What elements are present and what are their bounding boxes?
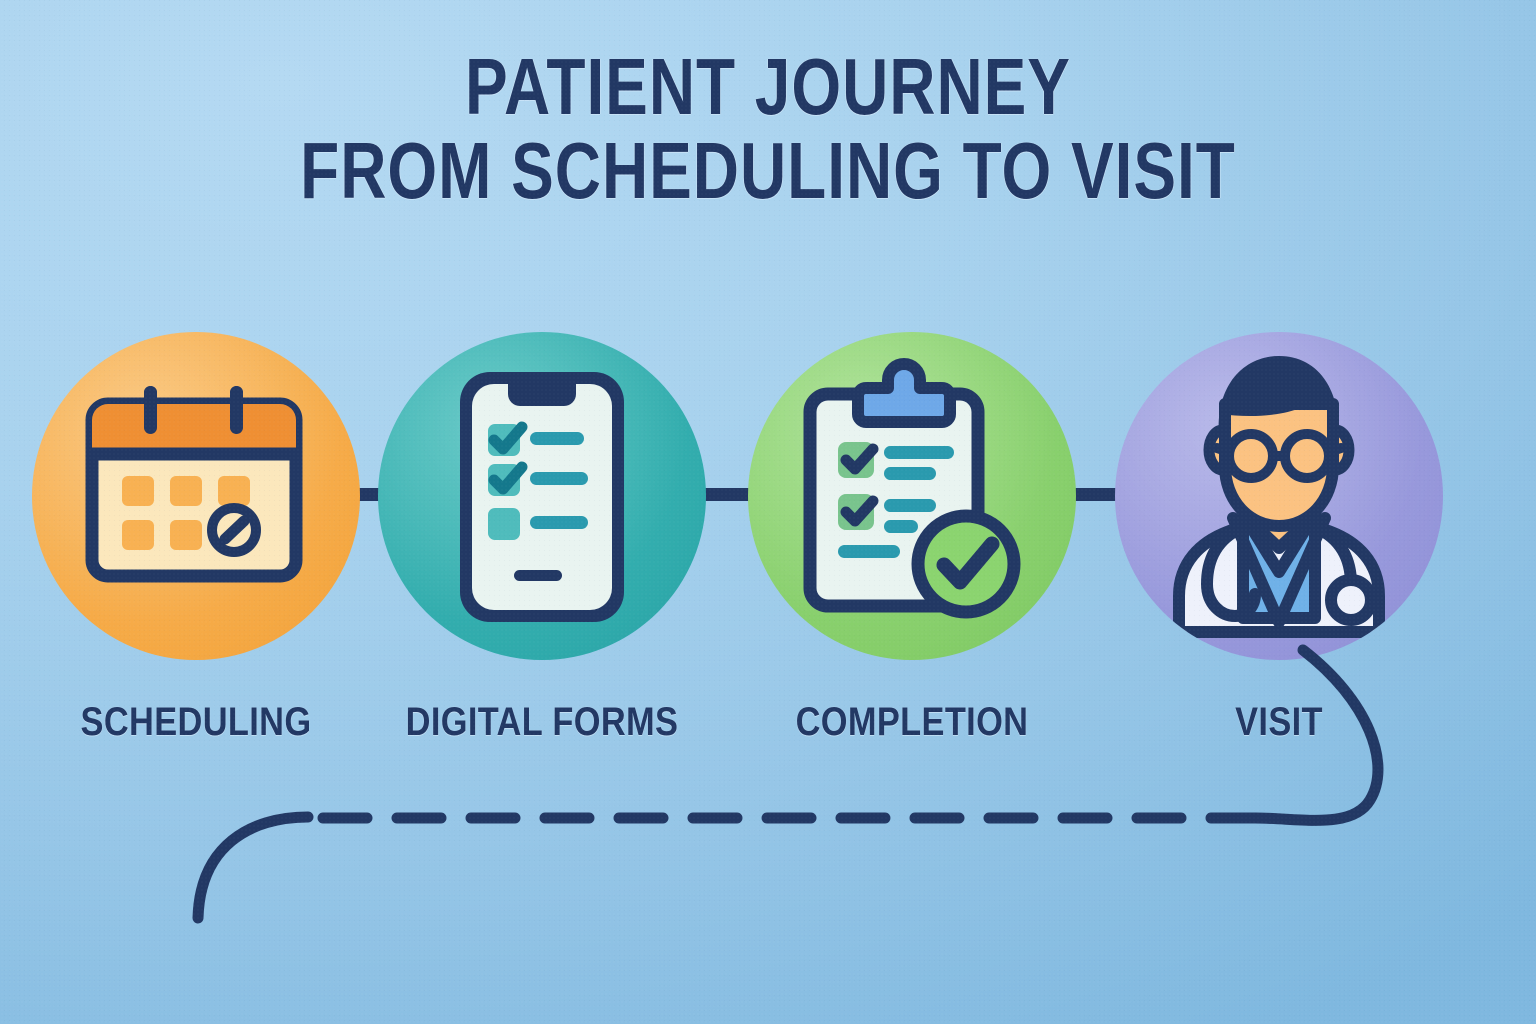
doctor-avatar-icon	[1115, 332, 1443, 660]
step-completion[interactable]: COMPLETION	[748, 332, 1076, 660]
page-title: PATIENT JOURNEY FROM SCHEDULING TO VISIT	[0, 48, 1536, 209]
step-digital-forms[interactable]: DIGITAL FORMS	[378, 332, 706, 660]
feedback-loop-left-curve	[198, 817, 308, 918]
step-visit[interactable]: VISIT	[1115, 332, 1443, 660]
step-label-visit: VISIT	[1138, 700, 1420, 745]
infographic-canvas: PATIENT JOURNEY FROM SCHEDULING TO VISIT	[0, 0, 1536, 1024]
clipboard-check-icon	[748, 332, 1076, 660]
title-line-2: FROM SCHEDULING TO VISIT	[154, 132, 1383, 210]
step-label-scheduling: SCHEDULING	[55, 700, 337, 745]
calendar-icon	[32, 332, 360, 660]
mobile-checklist-icon	[378, 332, 706, 660]
title-line-1: PATIENT JOURNEY	[154, 48, 1383, 126]
step-scheduling[interactable]: SCHEDULING	[32, 332, 360, 660]
step-label-digital-forms: DIGITAL FORMS	[401, 700, 683, 745]
step-label-completion: COMPLETION	[771, 700, 1053, 745]
